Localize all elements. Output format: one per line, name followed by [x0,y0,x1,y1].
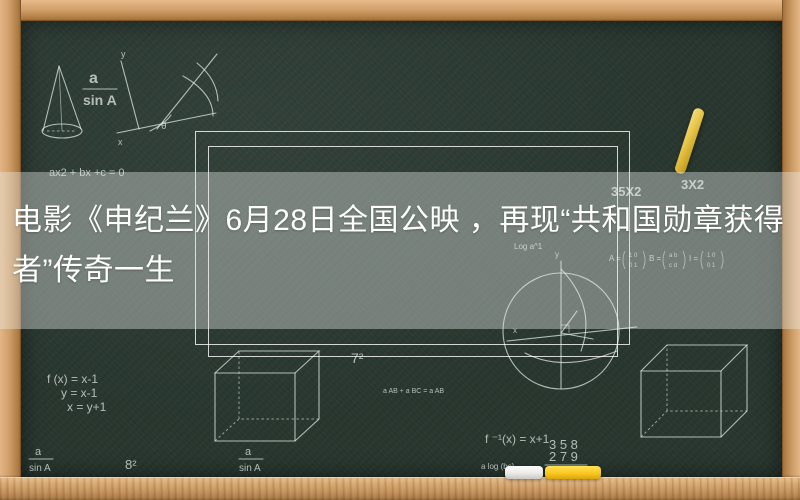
chalk-tray [0,477,800,500]
svg-text:sin A: sin A [29,463,51,474]
fraction-a-over-sinA-left-bottom: a sin A [29,446,53,474]
svg-text:2 7 9: 2 7 9 [549,449,578,464]
svg-text:θ: θ [161,121,167,132]
tray-lip [0,477,800,479]
svg-text:a: a [245,446,252,458]
page-title: 电影《申纪兰》6月28日全国公映 ，再现“共和国勋章获得者”传奇一生 [12,196,800,296]
fraction-a-over-sinA-topleft: a sin A [83,70,117,108]
tray-wood-grain [0,477,800,500]
svg-text:y: y [121,49,126,59]
svg-text:sin A: sin A [239,463,261,474]
svg-text:f (x) = x-1: f (x) = x-1 [47,372,98,386]
cube-diagram-right [641,345,747,437]
tray-white-chalk[interactable] [505,466,543,479]
cube-diagram-center [215,351,319,441]
fraction-a-over-sinA-center-bottom: a sin A [239,446,263,474]
svg-text:x = y+1: x = y+1 [67,400,107,414]
frame-bevel-top [0,0,800,21]
svg-text:y = x-1: y = x-1 [61,386,98,400]
label-3x2: 3X2 [681,177,704,192]
svg-text:f ⁻¹(x) = x+1: f ⁻¹(x) = x+1 [485,432,550,446]
svg-text:sin A: sin A [83,92,117,108]
svg-text:x: x [118,137,123,147]
function-equations-group: f (x) = x-1 y = x-1 x = y+1 [47,372,107,414]
vector-identity: a AB + a BC = a AB [383,388,444,395]
svg-text:a: a [35,446,42,458]
tray-yellow-chalk[interactable] [545,466,601,479]
chalkboard-poster: a sin A y x θ ax2 + bx +c = 0 [0,0,800,500]
svg-text:a: a [89,70,98,87]
power-eight-squared: 8² [125,457,137,472]
quadratic-equation-label: ax2 + bx +c = 0 [49,167,125,179]
cone-diagram [42,66,82,138]
